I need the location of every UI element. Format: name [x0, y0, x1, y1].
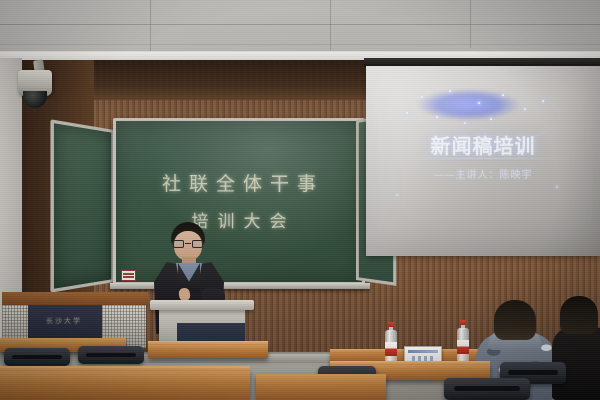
podium-front-text: 长沙大学 [24, 316, 104, 326]
bottle-cap-icon [460, 320, 466, 325]
attendee-camo-head [494, 300, 536, 340]
student-desk-edge [0, 366, 250, 371]
blackboard-left-wing [50, 119, 114, 292]
dome-security-camera [12, 60, 58, 116]
screen-glare [366, 66, 600, 256]
chair-backrest [78, 346, 144, 364]
attendee-dark-jacket [552, 296, 600, 400]
bottle-cap-icon [388, 322, 394, 327]
glasses-icon [173, 240, 203, 248]
podium-top-surface [2, 292, 148, 305]
slide-blue-glow-graphic [408, 88, 528, 132]
board-corner-tag [121, 270, 136, 281]
student-desk [0, 370, 250, 400]
projection-screen: 新闻稿培训 ——主讲人：陈映宇 [366, 66, 600, 256]
slide-divider [396, 158, 570, 159]
blackboard-line-1: 社联全体干事 [116, 169, 362, 196]
student-desk [256, 374, 386, 400]
lectern-top [150, 300, 254, 310]
slide-arc-decoration [382, 84, 560, 146]
student-desk [148, 344, 268, 358]
slide-subtitle: ——主讲人：陈映宇 [366, 166, 600, 181]
student-desk-edge [330, 361, 490, 365]
camera-dome-lens [23, 91, 47, 108]
chair-backrest [444, 378, 530, 400]
classroom-photo-scene: 社联全体干事 培训大会 新闻稿培训 ——主讲人：陈映宇 [0, 0, 600, 400]
podium-front-plate: 长沙大学 [24, 304, 104, 338]
slide-title: 新闻稿培训 [366, 130, 600, 159]
student-desk-edge [148, 341, 268, 345]
chair-backrest [4, 348, 70, 366]
attendee-dark-head [560, 296, 598, 334]
water-bottle [457, 320, 469, 362]
water-bottle [385, 322, 397, 364]
